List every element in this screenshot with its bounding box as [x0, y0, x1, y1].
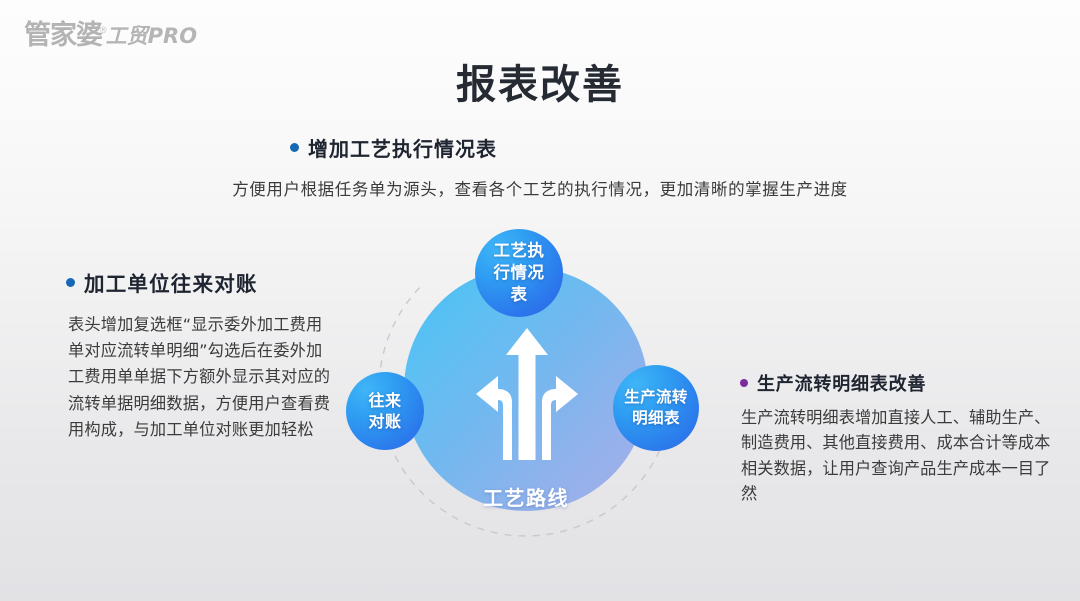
process-diagram: 工艺路线 工艺执 行情况 表 往来 对账 生产流转 明细表 — [330, 225, 722, 555]
bullet-dot-icon — [740, 379, 748, 387]
section-right: 生产流转明细表改善 生产流转明细表增加直接人工、辅助生产、制造费用、其他直接费用… — [740, 370, 1060, 506]
bullet-dot-icon — [66, 278, 75, 287]
node-left-line-2: 对账 — [368, 411, 401, 432]
section-right-heading-label: 生产流转明细表改善 — [757, 370, 926, 396]
node-right-line-1: 生产流转 — [624, 387, 688, 408]
node-process-execution[interactable]: 工艺执 行情况 表 — [475, 229, 563, 317]
node-top-line-3: 表 — [494, 284, 545, 306]
three-way-arrow-icon — [458, 310, 596, 460]
section-top-description: 方便用户根据任务单为源头，查看各个工艺的执行情况，更加清晰的掌握生产进度 — [0, 178, 1080, 203]
node-left-line-1: 往来 — [368, 390, 401, 411]
section-right-heading: 生产流转明细表改善 — [740, 370, 1060, 396]
brand-name-cn: 管家婆 — [24, 22, 102, 49]
node-right-line-2: 明细表 — [624, 408, 688, 429]
section-left-description: 表头增加复选框“显示委外加工费用单对应流转单明细”勾选后在委外加工费用单单据下方… — [60, 312, 335, 443]
section-left: 加工单位往来对账 表头增加复选框“显示委外加工费用单对应流转单明细”勾选后在委外… — [60, 267, 335, 443]
section-top: 增加工艺执行情况表 方便用户根据任务单为源头，查看各个工艺的执行情况，更加清晰的… — [0, 133, 1080, 203]
section-top-heading-label: 增加工艺执行情况表 — [308, 133, 497, 162]
section-left-heading: 加工单位往来对账 — [60, 267, 335, 297]
node-production-flow-detail[interactable]: 生产流转 明细表 — [613, 365, 699, 451]
main-circle-label: 工艺路线 — [404, 482, 648, 511]
slide-canvas: 管家婆 ® 工贸PRO 报表改善 增加工艺执行情况表 方便用户根据任务单为源头，… — [0, 0, 1080, 601]
section-top-heading: 增加工艺执行情况表 — [0, 133, 1080, 162]
brand-logo: 管家婆 ® 工贸PRO — [24, 22, 200, 49]
bullet-dot-icon — [290, 143, 299, 152]
node-account-reconciliation[interactable]: 往来 对账 — [346, 372, 424, 450]
section-right-description: 生产流转明细表增加直接人工、辅助生产、制造费用、其他直接费用、成本合计等成本相关… — [740, 405, 1060, 506]
page-title: 报表改善 — [0, 52, 1080, 110]
brand-product-name: 工贸PRO — [106, 26, 197, 47]
node-top-line-2: 行情况 — [494, 262, 545, 284]
section-left-heading-label: 加工单位往来对账 — [84, 267, 258, 297]
node-top-line-1: 工艺执 — [494, 240, 545, 262]
